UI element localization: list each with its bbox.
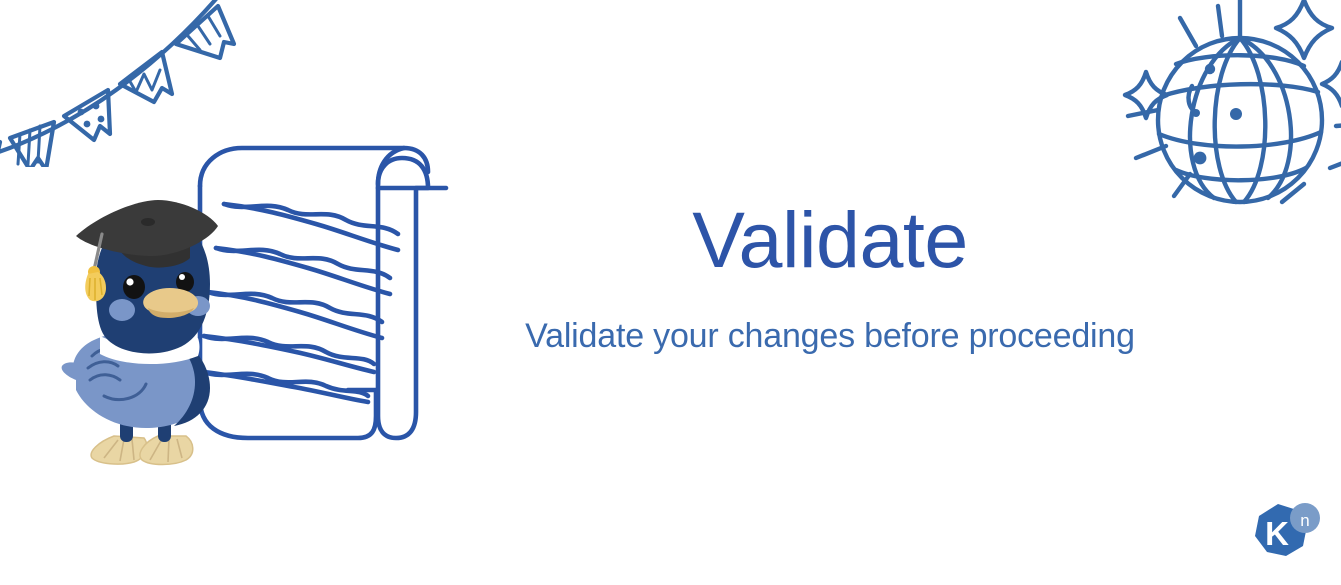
brand-logo[interactable]: K n	[1249, 500, 1321, 568]
page-subtitle: Validate your changes before proceeding	[470, 279, 1190, 356]
slide-canvas: Validate Validate your changes before pr…	[0, 0, 1341, 585]
party-bunting-banner-icon	[0, 0, 246, 167]
disco-ball-icon	[1118, 0, 1341, 224]
logo-letter-n: n	[1300, 511, 1309, 530]
parchment-scroll-icon	[176, 138, 466, 458]
page-title: Validate	[470, 200, 1190, 279]
logo-letter-k: K	[1265, 515, 1289, 552]
headline-block: Validate Validate your changes before pr…	[470, 200, 1190, 356]
graduate-bird-mascot-icon	[58, 190, 244, 468]
